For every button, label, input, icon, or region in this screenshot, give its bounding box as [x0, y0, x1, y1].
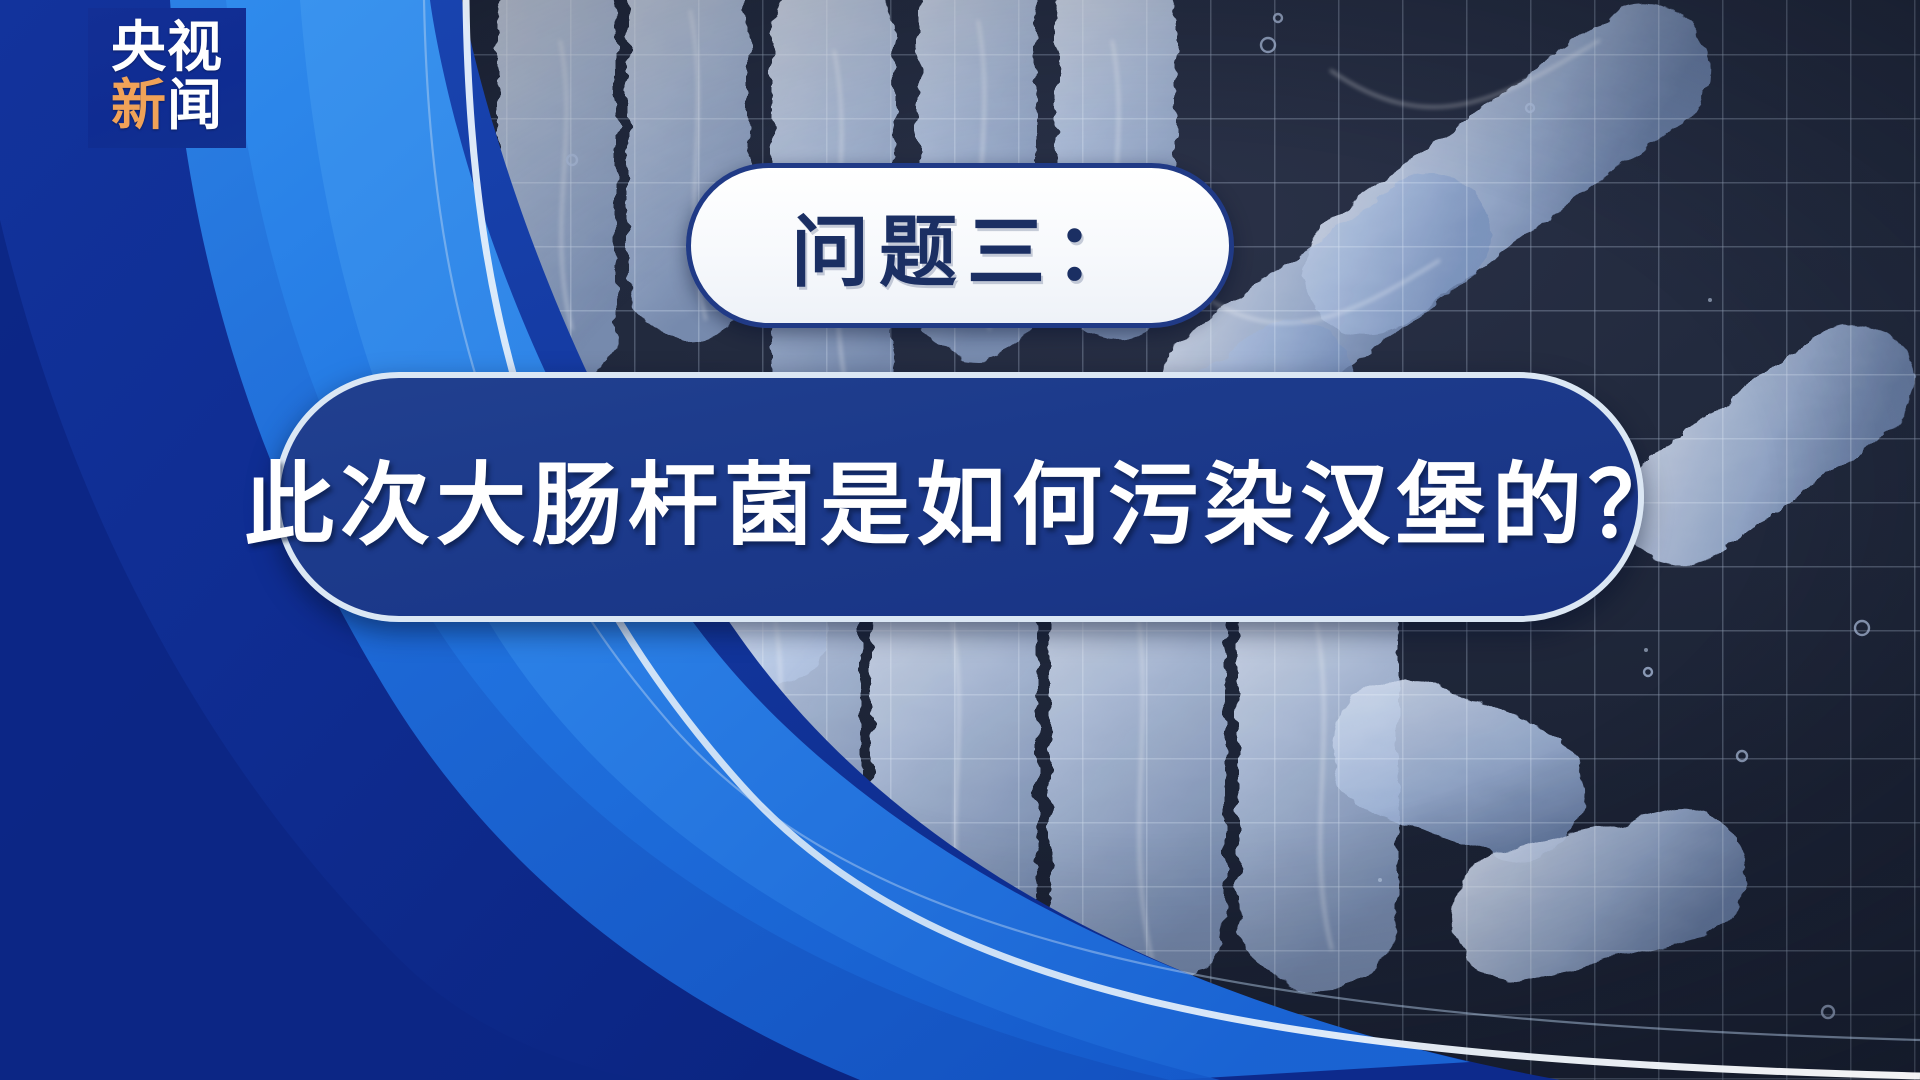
question-label-text: 问题三：	[777, 190, 1143, 302]
question-banner-text: 此次大肠杆菌是如何污染汉堡的？	[234, 432, 1684, 562]
logo-line-bottom: 新 闻	[111, 79, 223, 133]
logo-line-top: 央 视	[111, 21, 223, 75]
question-label-pill: 问题三：	[686, 163, 1234, 328]
logo-char-shi: 视	[167, 21, 223, 75]
question-banner: 此次大肠杆菌是如何污染汉堡的？	[274, 372, 1644, 622]
logo-char-yang: 央	[111, 21, 167, 75]
news-graphic-stage: 央 视 新 闻 问题三： 此次大肠杆菌是如何污染汉堡的？	[0, 0, 1920, 1080]
cctv-news-logo: 央 视 新 闻	[88, 8, 246, 148]
logo-char-xin: 新	[111, 79, 167, 133]
logo-char-wen: 闻	[167, 79, 223, 133]
